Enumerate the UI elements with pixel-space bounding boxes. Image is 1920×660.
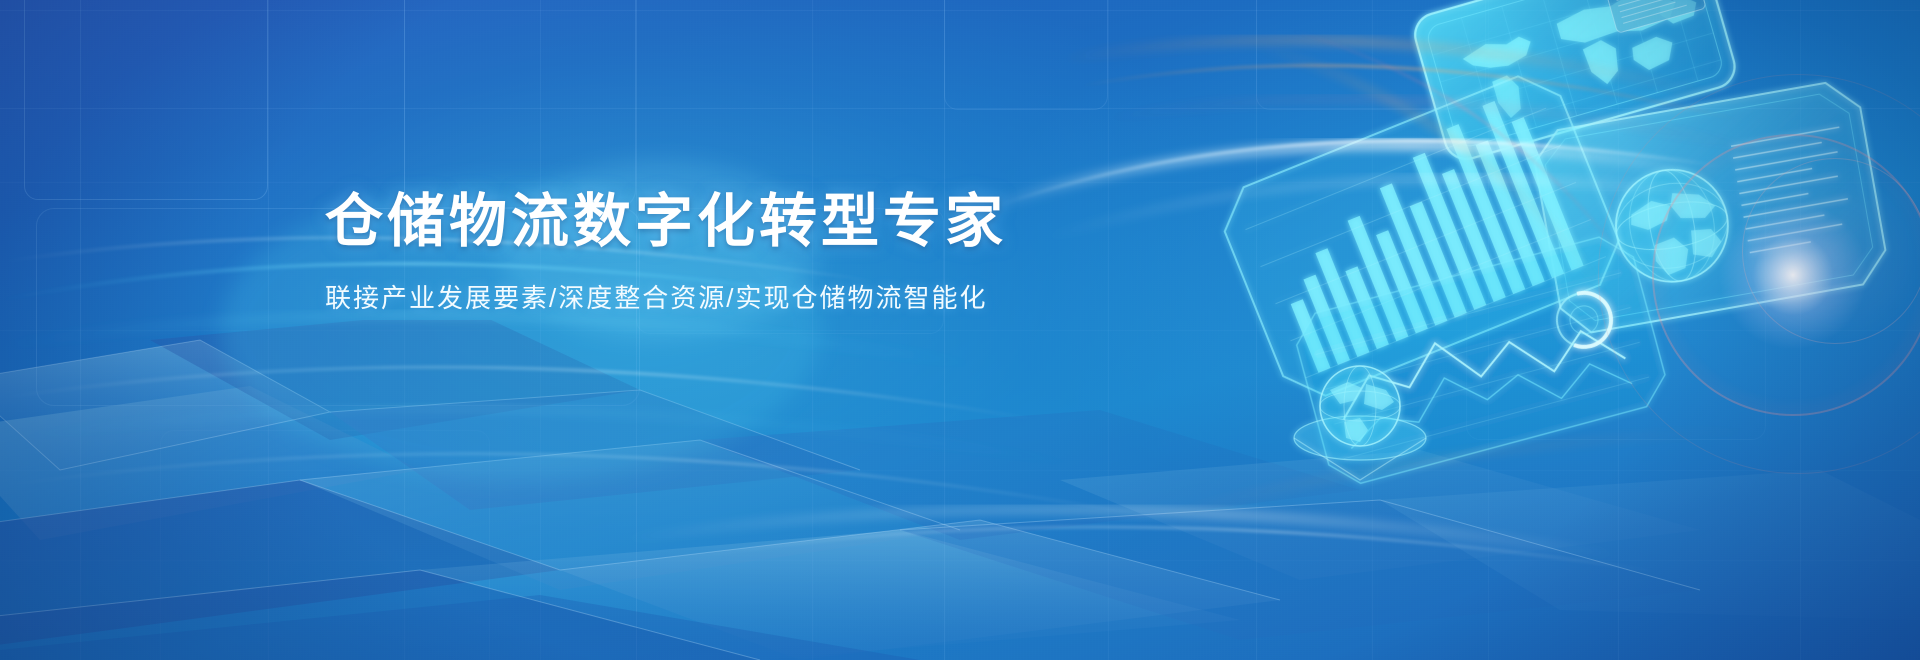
- globe-icon: [1607, 161, 1737, 291]
- banner-subheadline: 联接产业发展要素/深度整合资源/实现仓储物流智能化: [325, 282, 1085, 316]
- panel-text-lines: [1731, 127, 1858, 252]
- banner-headline: 仓储物流数字化转型专家: [325, 190, 1085, 254]
- hero-banner: ASIA: [0, 0, 1920, 660]
- globe-panel: [1530, 78, 1891, 337]
- geometric-facets: [0, 320, 1920, 660]
- banner-text-block: 仓储物流数字化转型专家 联接产业发展要素/深度整合资源/实现仓储物流智能化: [325, 190, 1085, 316]
- lens-flare-halo-2: [1742, 158, 1920, 344]
- asia-label-group: ASIA: [1601, 0, 1707, 33]
- world-map-panel: ASIA: [1410, 0, 1740, 164]
